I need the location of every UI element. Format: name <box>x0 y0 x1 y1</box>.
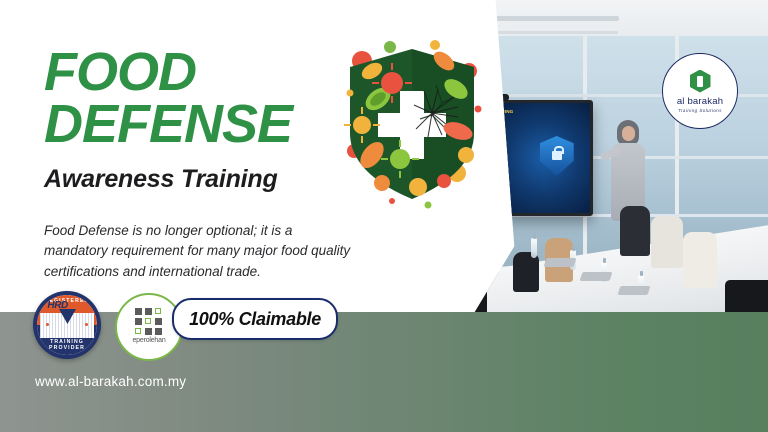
claimable-badge: 100% Claimable <box>172 298 338 340</box>
brand-logo: al barakah Training Solutions <box>662 53 738 129</box>
promo-banner: FOOD DEFENSE AWARENESS TRAINING Protecti… <box>0 0 768 432</box>
water-bottle <box>531 238 537 258</box>
laptop <box>618 286 651 295</box>
brand-name: al barakah <box>677 96 723 107</box>
eperolehan-grid-icon <box>135 308 162 335</box>
shield-lock-icon <box>540 136 574 176</box>
laptop <box>544 258 577 267</box>
subheadline: Awareness Training <box>44 165 384 194</box>
headline-line-1: FOOD <box>44 47 374 99</box>
headline-line-2: DEFENSE <box>44 99 374 151</box>
page-title: FOOD DEFENSE <box>44 47 374 151</box>
attendee <box>620 206 650 256</box>
hrd-corp-text: CORP <box>68 303 87 310</box>
presenter-face <box>622 126 635 141</box>
website-url: www.al-barakah.com.my <box>35 374 186 389</box>
hrd-arc-bottom-label: TRAINING PROVIDER <box>37 339 97 351</box>
attendee <box>683 232 717 288</box>
hexagon-logo-icon <box>690 70 711 93</box>
body-copy: Food Defense is no longer optional; it i… <box>44 221 354 284</box>
attendee <box>513 252 539 292</box>
lock-icon <box>552 151 562 160</box>
laptop <box>580 272 613 281</box>
attendee <box>651 216 683 268</box>
hrd-badge-inner: REGISTERED TRAINING PROVIDER HRDCORP <box>37 295 97 355</box>
hrd-corp-badge: REGISTERED TRAINING PROVIDER HRDCORP <box>33 291 101 359</box>
eperolehan-label: eperolehan <box>117 337 181 344</box>
brand-tagline: Training Solutions <box>678 108 722 113</box>
hrd-center-label: HRDCORP <box>37 300 97 311</box>
hrd-center-text: HRD <box>47 300 67 311</box>
